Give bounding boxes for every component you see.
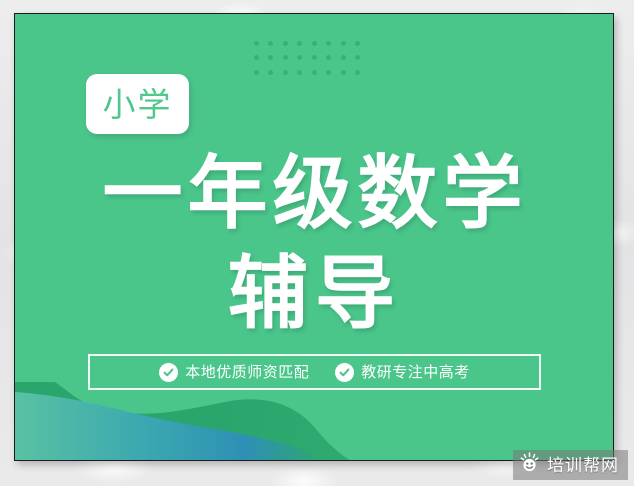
- poster-title-line-2: 辅导: [15, 254, 614, 334]
- grid-dot: [312, 41, 317, 46]
- grid-dot: [254, 70, 259, 75]
- grid-dot: [254, 55, 259, 60]
- grid-dot: [283, 70, 288, 75]
- feature-item-label: 本地优质师资匹配: [185, 365, 309, 380]
- poster-title-line-1: 一年级数学: [15, 154, 614, 234]
- feature-item-exam-research: 教研专注中高考: [335, 363, 470, 382]
- grid-dot: [283, 41, 288, 46]
- site-watermark-label: 培训帮网: [547, 457, 619, 474]
- grid-dot: [326, 55, 331, 60]
- check-circle-icon: [335, 363, 354, 382]
- sun-face-icon: [519, 452, 540, 478]
- grade-level-badge-label: 小学: [103, 88, 173, 121]
- grid-dot: [312, 55, 317, 60]
- grid-dot: [326, 70, 331, 75]
- check-circle-icon: [159, 363, 178, 382]
- grid-dot: [312, 70, 317, 75]
- course-poster-card: 小学 一年级数学 辅导 本地优质师资匹配 教研专注中高考: [14, 13, 614, 461]
- grid-dot: [268, 70, 273, 75]
- dot-grid-decoration: [249, 36, 365, 80]
- grid-dot: [283, 55, 288, 60]
- wave-decoration: [15, 382, 614, 460]
- site-watermark: 培训帮网: [513, 450, 628, 480]
- grid-dot: [326, 41, 331, 46]
- grid-dot: [355, 55, 360, 60]
- grade-level-badge: 小学: [86, 74, 189, 134]
- grid-dot: [341, 55, 346, 60]
- grid-dot: [341, 41, 346, 46]
- grid-dot: [341, 70, 346, 75]
- grid-dot: [268, 41, 273, 46]
- grid-dot: [297, 70, 302, 75]
- feature-item-local-teachers: 本地优质师资匹配: [159, 363, 309, 382]
- feature-item-label: 教研专注中高考: [361, 365, 470, 380]
- grid-dot: [297, 41, 302, 46]
- grid-dot: [268, 55, 273, 60]
- grid-dot: [254, 41, 259, 46]
- grid-dot: [355, 41, 360, 46]
- grid-dot: [355, 70, 360, 75]
- grid-dot: [297, 55, 302, 60]
